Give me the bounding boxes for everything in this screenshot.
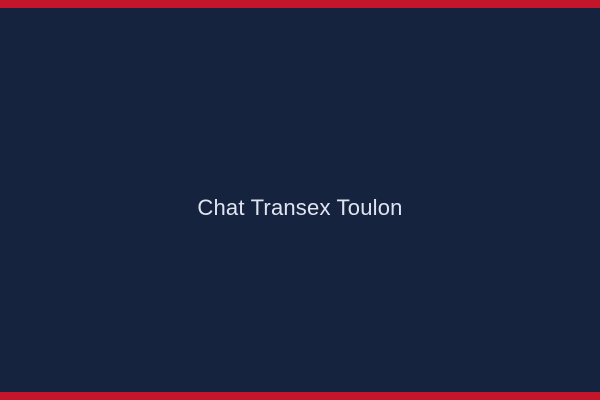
headline-container: Chat Transex Toulon [0,197,600,219]
top-accent-bar [0,0,600,8]
placeholder-canvas: Chat Transex Toulon [0,8,600,392]
bottom-accent-bar [0,392,600,400]
placeholder-card: Chat Transex Toulon [0,0,600,400]
page-title: Chat Transex Toulon [197,197,402,219]
